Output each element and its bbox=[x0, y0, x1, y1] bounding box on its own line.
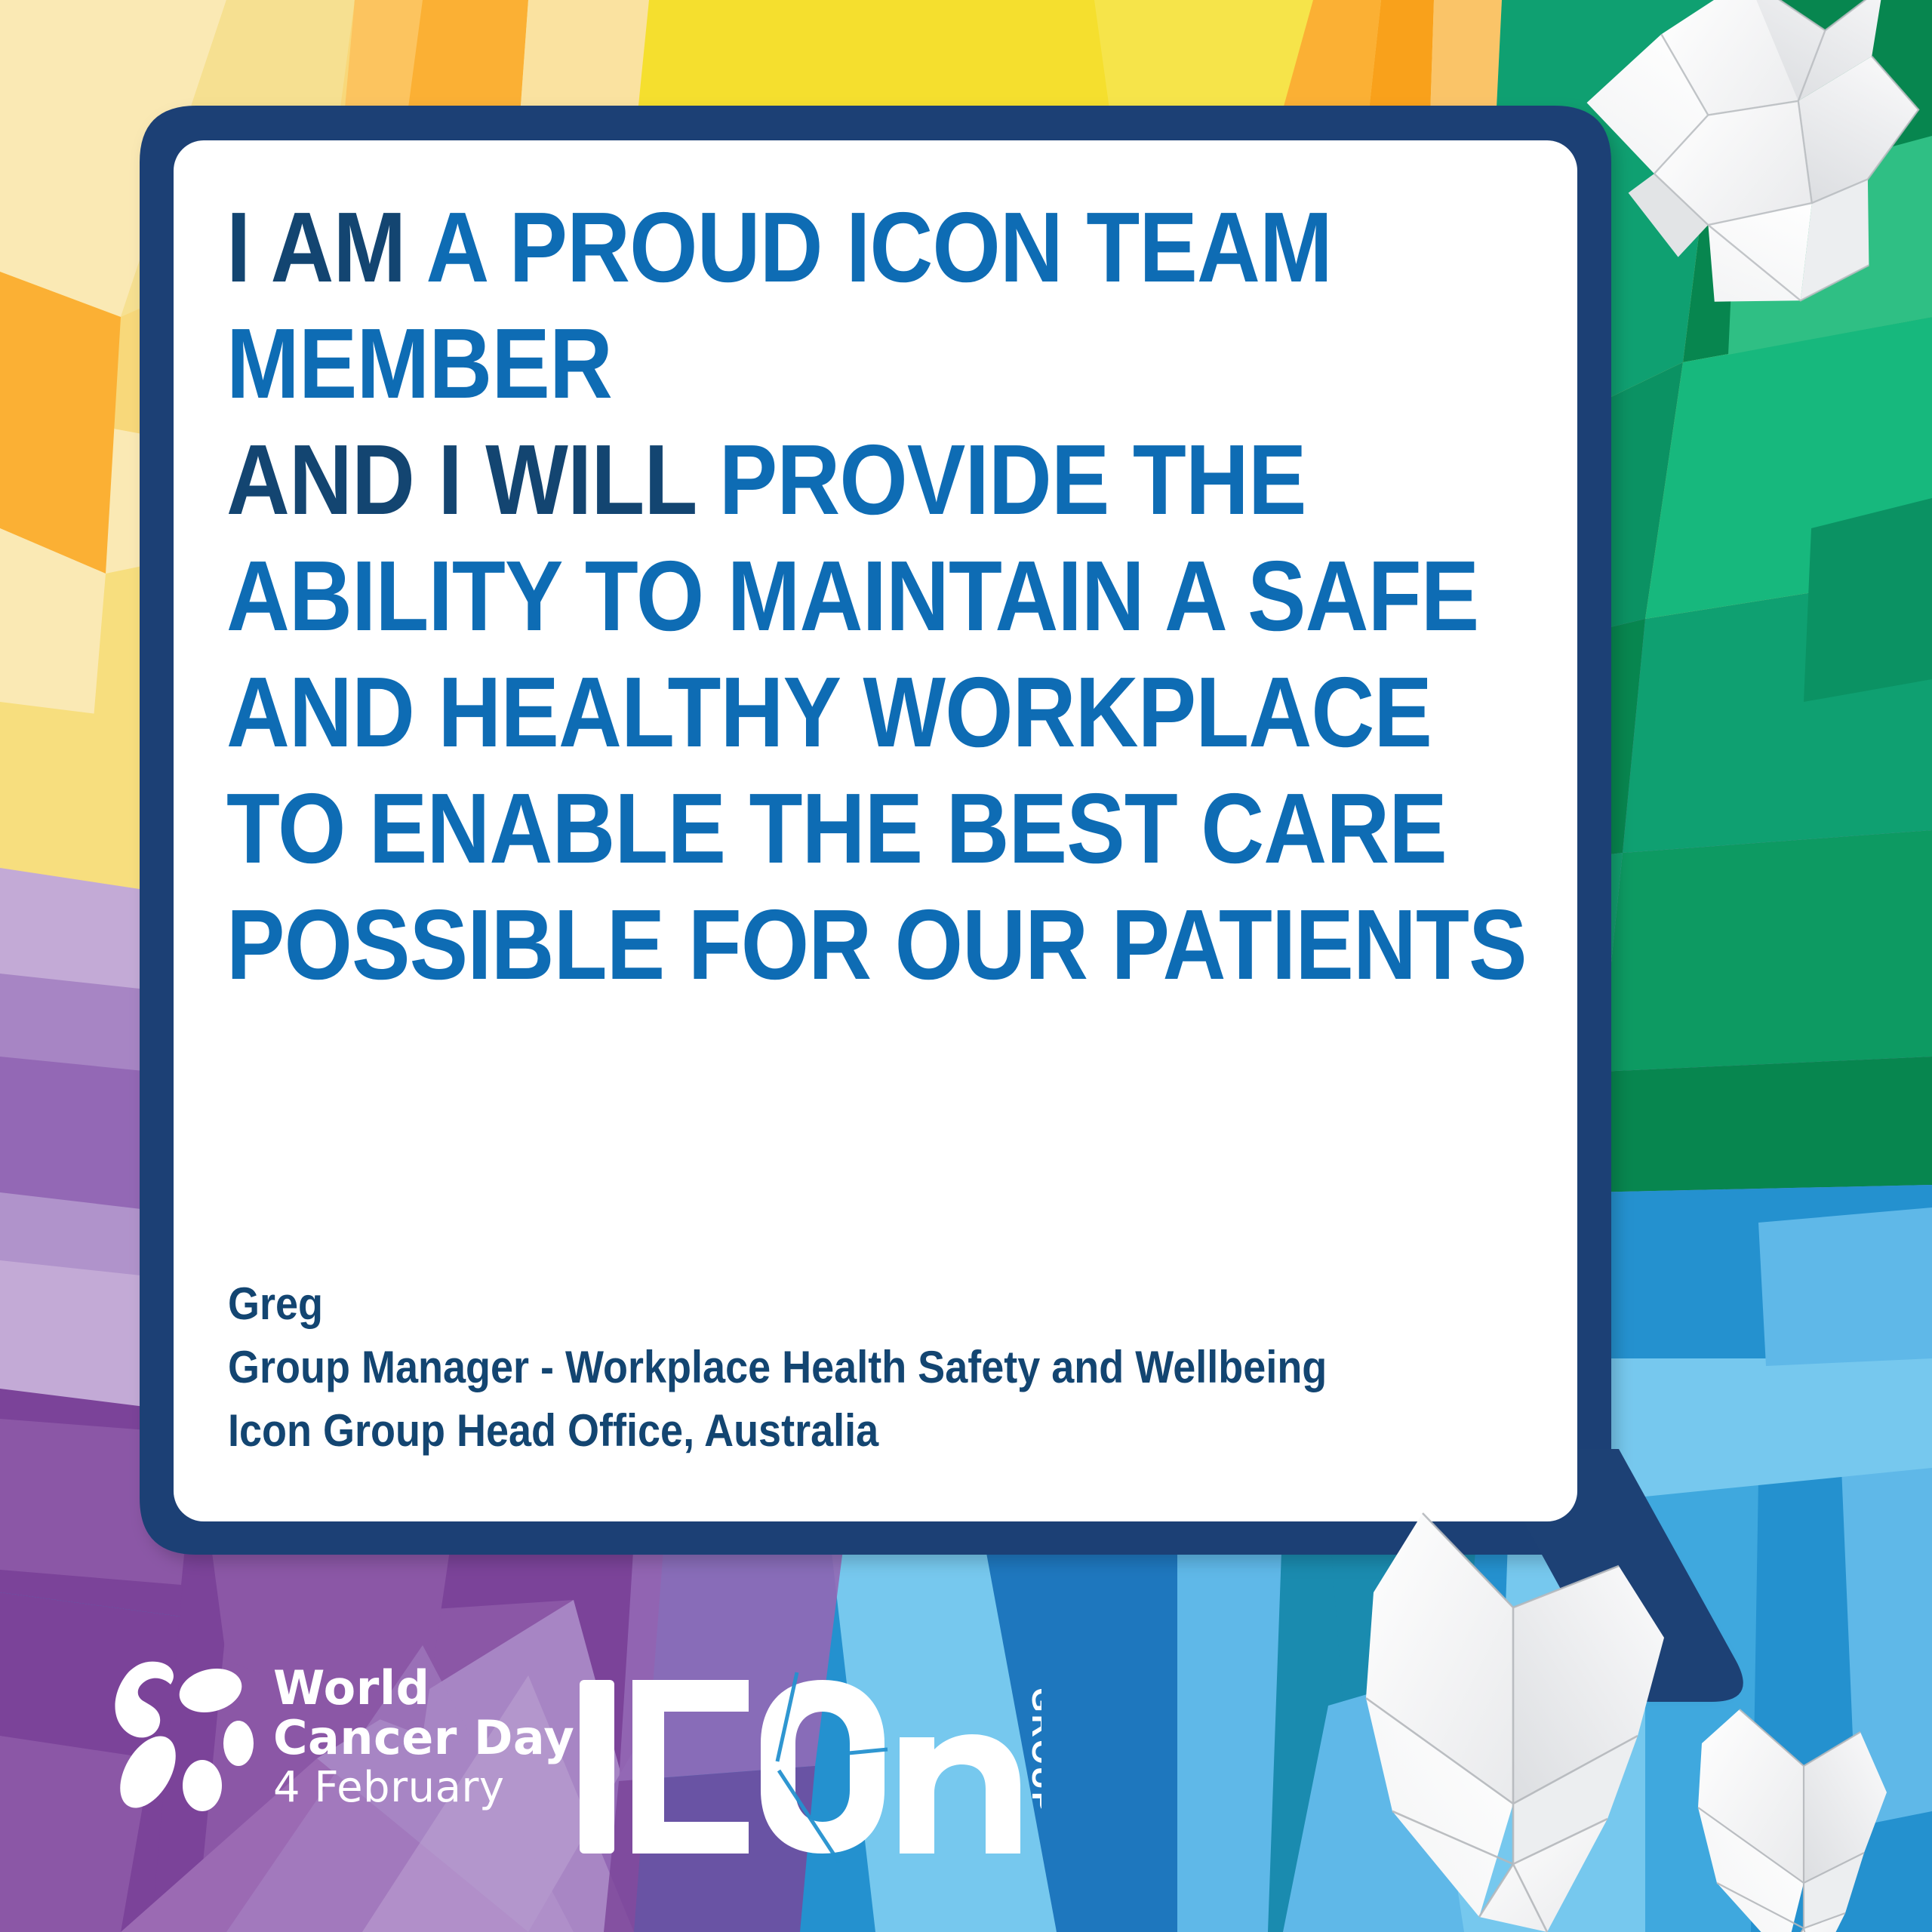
attribution-role: Group Manager - Workplace Health Safety … bbox=[228, 1336, 1518, 1399]
icon-group-suffix: GROUP bbox=[1026, 1687, 1041, 1815]
quote-segment: PROVIDE THE bbox=[719, 424, 1306, 535]
poster-canvas: I AM A PROUD ICON TEAM MEMBER AND I WILL… bbox=[0, 0, 1932, 1932]
wcd-line-cancer-day: Cancer Day bbox=[273, 1713, 574, 1763]
pledge-quote: I AM A PROUD ICON TEAM MEMBER AND I WILL… bbox=[226, 202, 1758, 1016]
quote-line: POSSIBLE FOR OUR PATIENTS bbox=[226, 900, 1574, 990]
wcd-line-world: World bbox=[273, 1663, 574, 1713]
quote-line: AND HEALTHY WORKPLACE bbox=[226, 667, 1574, 758]
world-cancer-day-people-mark bbox=[106, 1659, 254, 1817]
quote-segment: ABILITY TO MAINTAIN A SAFE bbox=[226, 540, 1478, 651]
world-cancer-day-logo: World Cancer Day 4 February bbox=[106, 1659, 574, 1817]
wcd-line-date: 4 February bbox=[273, 1763, 574, 1813]
quote-segment: MEMBER bbox=[226, 308, 612, 419]
quote-segment: AND I WILL bbox=[226, 424, 719, 535]
quote-segment: TO ENABLE THE BEST CARE bbox=[226, 773, 1447, 884]
quote-line: AND I WILL PROVIDE THE bbox=[226, 435, 1574, 525]
quote-segment: I AM bbox=[226, 192, 426, 303]
origami-heart-bottom-large bbox=[1366, 1513, 1664, 1932]
attribution-location: Icon Group Head Office, Australia bbox=[228, 1399, 1518, 1463]
origami-heart-bottom-small bbox=[1698, 1709, 1887, 1932]
attribution: Greg Group Manager - Workplace Health Sa… bbox=[228, 1272, 1518, 1463]
quote-line: TO ENABLE THE BEST CARE bbox=[226, 783, 1574, 874]
icon-group-logo: GROUP bbox=[574, 1665, 1041, 1884]
quote-line: ABILITY TO MAINTAIN A SAFE bbox=[226, 551, 1574, 641]
quote-segment: POSSIBLE FOR OUR PATIENTS bbox=[226, 889, 1527, 1000]
attribution-name: Greg bbox=[228, 1272, 1518, 1336]
quote-segment: AND HEALTHY WORKPLACE bbox=[226, 657, 1432, 768]
quote-line: MEMBER bbox=[226, 318, 1574, 409]
quote-segment: A PROUD ICON TEAM bbox=[426, 192, 1331, 303]
quote-line: I AM A PROUD ICON TEAM bbox=[226, 202, 1574, 293]
world-cancer-day-text: World Cancer Day 4 February bbox=[273, 1663, 574, 1813]
